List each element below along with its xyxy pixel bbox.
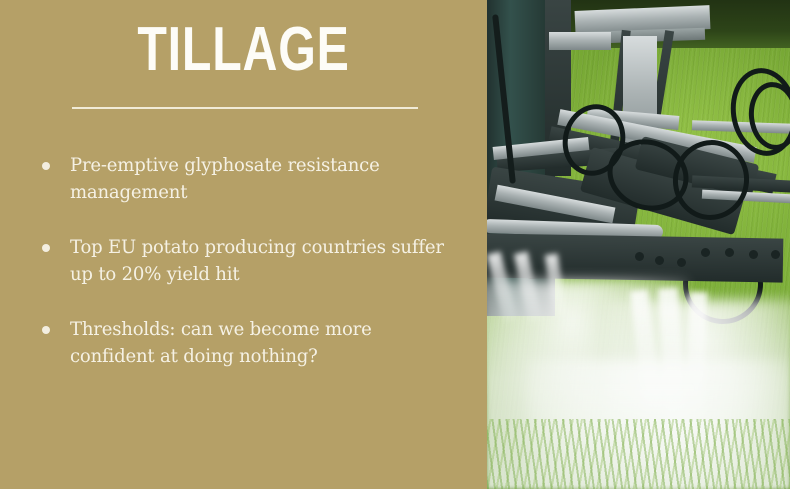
bullet-dot-icon	[42, 326, 50, 334]
nozzle-icon	[701, 248, 710, 257]
bullet-item-2-text: Top EU potato producing countries suffer…	[70, 234, 448, 288]
list-item: Thresholds: can we become more confident…	[38, 316, 468, 370]
nozzle-icon	[677, 258, 686, 267]
nozzle-icon	[725, 248, 734, 257]
nozzle-icon	[771, 250, 780, 259]
beam-bracket	[549, 32, 611, 50]
title-divider	[72, 107, 418, 109]
foreground-grass	[487, 419, 790, 489]
tillage-slide: TILLAGE Pre-emptive glyphosate resistanc…	[0, 0, 790, 489]
bullet-item-1-text: Pre-emptive glyphosate resistance manage…	[70, 152, 448, 206]
list-item: Top EU potato producing countries suffer…	[38, 234, 468, 288]
nozzle-icon	[655, 256, 664, 265]
page-title: TILLAGE	[54, 14, 434, 86]
sprayer-photo	[487, 0, 790, 489]
nozzle-icon	[749, 250, 758, 259]
bullet-item-3-text: Thresholds: can we become more confident…	[70, 316, 448, 370]
bullet-list: Pre-emptive glyphosate resistance manage…	[38, 152, 468, 398]
nozzle-icon	[635, 252, 644, 261]
bullet-dot-icon	[42, 244, 50, 252]
text-panel: TILLAGE Pre-emptive glyphosate resistanc…	[0, 0, 487, 489]
list-item: Pre-emptive glyphosate resistance manage…	[38, 152, 468, 206]
bullet-dot-icon	[42, 162, 50, 170]
